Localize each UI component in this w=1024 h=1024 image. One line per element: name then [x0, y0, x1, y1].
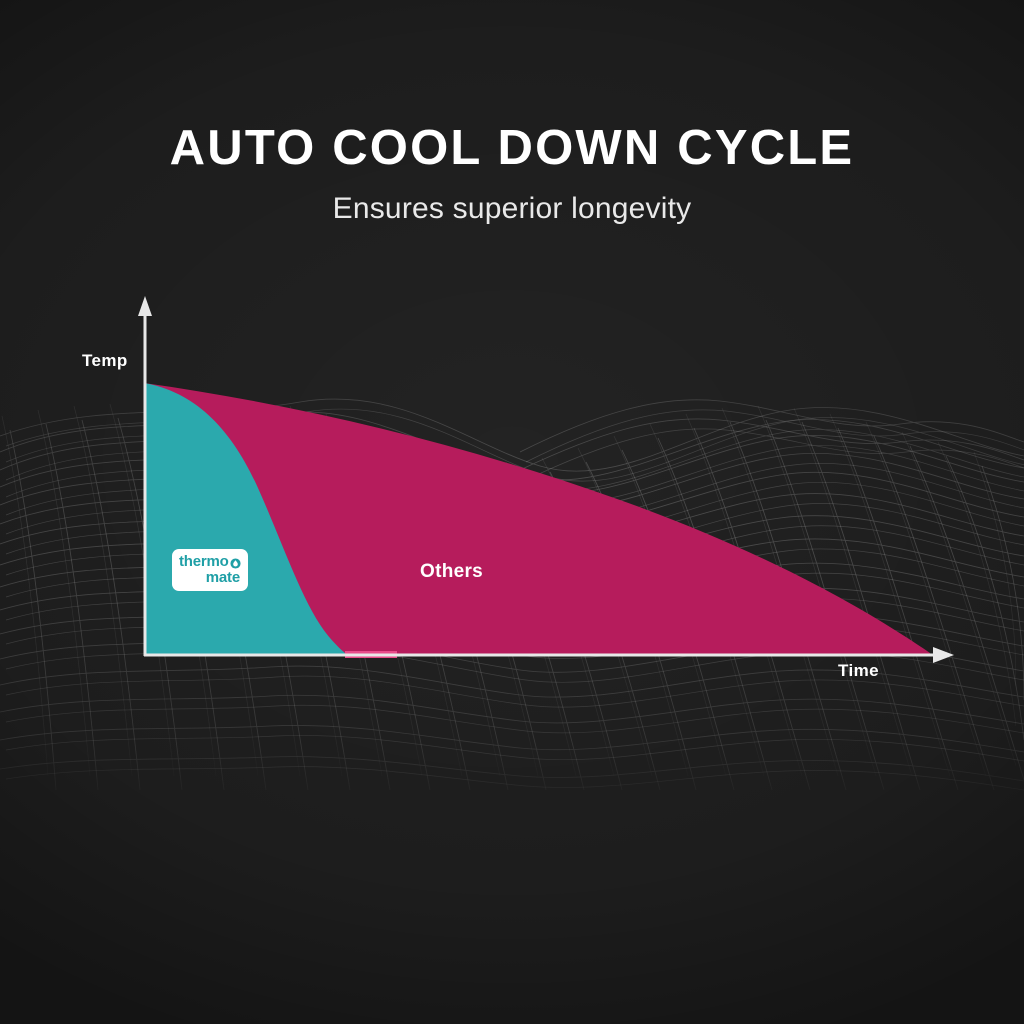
flame-drop-icon: [230, 558, 241, 569]
logo-word-mate: mate: [179, 570, 242, 586]
y-axis-label: Temp: [82, 351, 128, 371]
poster-canvas: AUTO COOL DOWN CYCLE Ensures superior lo…: [0, 0, 1024, 1024]
thermomate-logo-badge: thermo mate: [172, 549, 248, 591]
x-axis-label: Time: [838, 661, 879, 681]
logo-word-thermo: thermo: [179, 554, 229, 570]
cool-down-area-chart: [0, 0, 1024, 1024]
logo-line-1-row: thermo: [179, 554, 242, 570]
x-axis-arrowhead: [933, 647, 954, 663]
y-axis-arrowhead: [138, 296, 152, 316]
series-label-others: Others: [420, 561, 483, 583]
